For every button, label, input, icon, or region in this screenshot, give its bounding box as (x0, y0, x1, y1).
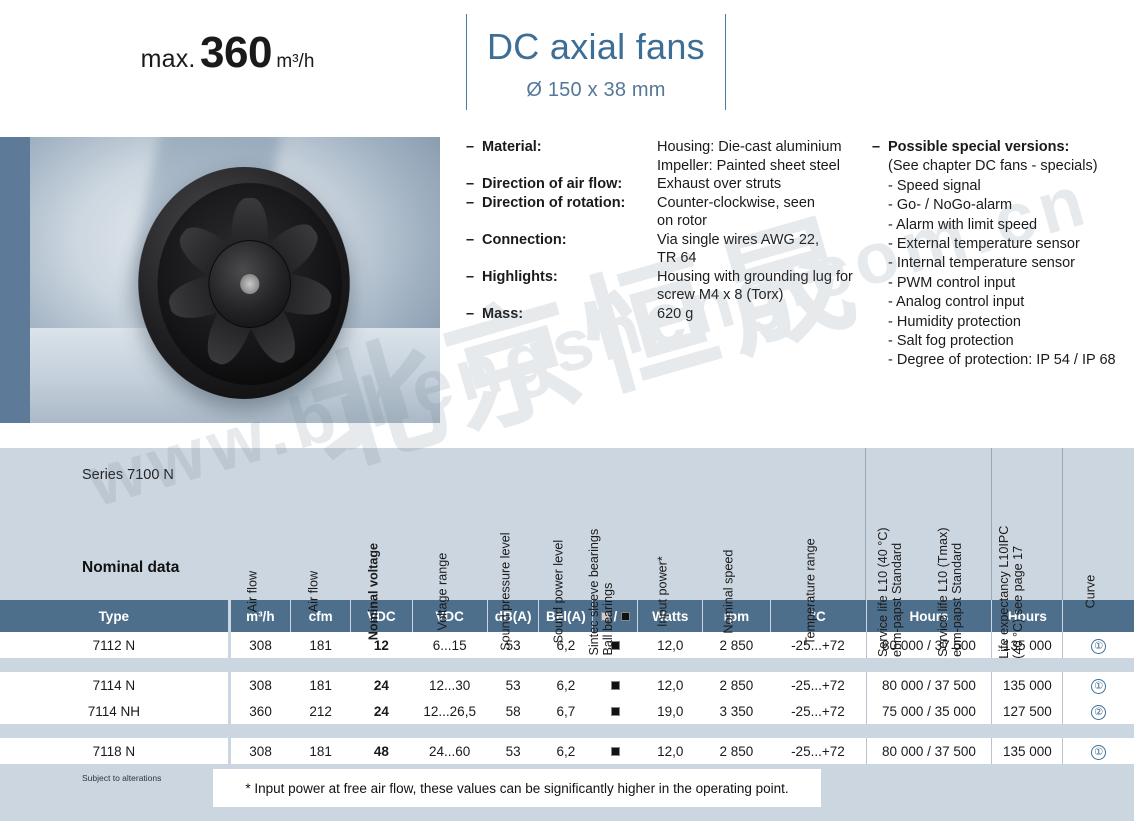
vhdr-text-a1: Service life L10 (40 °C) (877, 527, 891, 657)
fan-housing (138, 167, 349, 399)
product-info-section: – Material: Housing: Die-cast aluminium … (0, 130, 1134, 430)
cell-nominal-voltage: 48 (351, 738, 412, 764)
special-versions-list: – Possible special versions: (See chapte… (872, 138, 1134, 371)
spec-value: Exhaust over struts (657, 175, 866, 194)
title-block: DC axial fans Ø 150 x 38 mm (466, 14, 726, 110)
cell-service-life: 80 000 / 37 500 (866, 738, 992, 764)
cell-airflow-cfm: 181 (290, 632, 350, 658)
cell-sound-power: 6,7 (539, 698, 593, 724)
specials-item: - Speed signal (888, 177, 1134, 196)
spec-value: Housing with grounding lug for (657, 268, 866, 287)
top-banner: max. 360 m³/h DC axial fans Ø 150 x 38 m… (0, 0, 1134, 130)
vhdr-airflow-cfm: Air flow (290, 448, 350, 600)
specials-item: - External temperature sensor (888, 235, 1134, 254)
nominal-data-table: Series 7100 N Nominal data Air flow Air … (0, 448, 1134, 821)
vhdr-text: Air flow (307, 571, 321, 612)
cell-airflow-m3h: 308 (229, 632, 290, 658)
vhdr-sound-power: Sound power level (539, 448, 593, 600)
cell-input-power: 19,0 (638, 698, 703, 724)
spec-item: – Material: Housing: Die-cast aluminium (466, 138, 866, 157)
specifications-list: – Material: Housing: Die-cast aluminium … (466, 138, 866, 323)
cell-input-power: 12,0 (638, 632, 703, 658)
bullet-dash-icon: – (466, 231, 482, 250)
cell-voltage-range: 12...26,5 (412, 698, 487, 724)
cell-curve: ② (1063, 698, 1134, 724)
cell-curve: ① (1063, 738, 1134, 764)
cell-curve: ① (1063, 632, 1134, 658)
specials-item: - Alarm with limit speed (888, 216, 1134, 235)
vhdr-text: Air flow (246, 571, 260, 612)
vhdr-temperature-range: Temperature range (770, 448, 866, 600)
specials-subheading: (See chapter DC fans - specials) (888, 157, 1134, 176)
spec-value: Counter-clockwise, seen (657, 194, 866, 213)
spec-label: Direction of air flow: (482, 175, 657, 194)
cell-input-power: 12,0 (638, 672, 703, 698)
cell-service-life: 75 000 / 35 000 (866, 698, 992, 724)
cell-airflow-m3h: 308 (229, 738, 290, 764)
vhdr-nominal-voltage: Nominal voltage (351, 448, 412, 600)
cell-voltage-range: 24...60 (412, 738, 487, 764)
vhdr-text: Nominal voltage (368, 543, 382, 640)
unit-sound-pressure: dB(A) (487, 600, 539, 632)
spec-value: Housing: Die-cast aluminium (657, 138, 866, 157)
cell-bearing (593, 672, 638, 698)
fan-hub (208, 240, 291, 328)
cell-nominal-speed: 2 850 (703, 738, 771, 764)
bullet-dash-icon: – (466, 138, 482, 157)
cell-type: 7114 N (0, 672, 229, 698)
curve-number: ② (1091, 705, 1106, 720)
cell-temp-range: -25...+72 (770, 698, 866, 724)
spec-item: – Direction of rotation: Counter-clockwi… (466, 194, 866, 213)
cell-nominal-voltage: 24 (351, 698, 412, 724)
cell-airflow-m3h: 360 (229, 698, 290, 724)
spec-item: – Highlights: Housing with grounding lug… (466, 268, 866, 287)
bullet-dash-icon: – (466, 194, 482, 213)
vhdr-nominal-speed: Nominal speed (703, 448, 771, 600)
axial-fan-illustration (128, 163, 360, 403)
spec-cont: screw M4 x 8 (Torx) (466, 286, 866, 305)
vhdr-life-expectancy: Life expectancy L10IPC (40 °C) see page … (992, 448, 1063, 600)
spec-cont: on rotor (466, 212, 866, 231)
vhdr-text: Curve (1085, 575, 1099, 609)
cell-type: 7118 N (0, 738, 229, 764)
ball-bearing-icon (621, 612, 630, 621)
specials-heading-row: – Possible special versions: (872, 138, 1134, 157)
ball-bearing-icon (611, 747, 620, 756)
max-airflow-callout: max. 360 m³/h (0, 28, 455, 78)
page-title: DC axial fans (467, 29, 725, 65)
series-label: Series 7100 N (82, 467, 174, 483)
vhdr-text-ball: Ball bearings (602, 529, 616, 656)
cell-nominal-speed: 3 350 (703, 698, 771, 724)
cell-life-expectancy: 135 000 (992, 738, 1063, 764)
cell-sound-pressure: 58 (487, 698, 539, 724)
cell-sound-pressure: 53 (487, 672, 539, 698)
unit-temp-range: °C (770, 600, 866, 632)
curve-number: ① (1091, 639, 1106, 654)
unit-nominal-voltage: VDC (351, 600, 412, 632)
curve-number: ① (1091, 745, 1106, 760)
curve-number: ① (1091, 679, 1106, 694)
cell-nominal-speed: 2 850 (703, 632, 771, 658)
cell-temp-range: -25...+72 (770, 738, 866, 764)
spec-value: 620 g (657, 305, 866, 324)
ball-bearing-icon (611, 707, 620, 716)
cell-voltage-range: 6...15 (412, 632, 487, 658)
cell-sound-pressure: 53 (487, 738, 539, 764)
max-prefix: max. (141, 45, 196, 73)
bullet-dash-icon: – (872, 138, 888, 157)
specials-heading: Possible special versions: (888, 138, 1069, 157)
cell-sound-power: 6,2 (539, 738, 593, 764)
unit-curve (1063, 600, 1134, 632)
cell-temp-range: -25...+72 (770, 672, 866, 698)
cell-nominal-speed: 2 850 (703, 672, 771, 698)
fan-impeller (157, 183, 342, 385)
vhdr-text-b1: Service life L10 (Tmax) (937, 527, 951, 656)
bullet-dash-icon: – (466, 268, 482, 287)
vhdr-text-a2: ebm-papst Standard (890, 527, 904, 657)
vhdr-bearings: Sintec sleeve bearings Ball bearings (593, 448, 638, 600)
spec-item: – Mass: 620 g (466, 305, 866, 324)
cell-service-life: 80 000 / 37 500 (866, 672, 992, 698)
vhdr-service-life: Service life L10 (40 °C) ebm-papst Stand… (866, 448, 992, 600)
table-footer: Subject to alterations * Input power at … (0, 764, 1134, 821)
table-row: 7114 NH 360 212 24 12...26,5 58 6,7 19,0… (0, 698, 1134, 724)
vhdr-text: Input power* (657, 557, 671, 628)
spec-label: Mass: (482, 305, 657, 324)
unit-type: Type (0, 600, 229, 632)
cell-temp-range: -25...+72 (770, 632, 866, 658)
vhdr-input-power: Input power* (638, 448, 703, 600)
page-subtitle: Ø 150 x 38 mm (467, 79, 725, 102)
cell-type: 7114 NH (0, 698, 229, 724)
spec-label: Material: (482, 138, 657, 157)
spec-item: – Connection: Via single wires AWG 22, (466, 231, 866, 250)
cell-life-expectancy: 127 500 (992, 698, 1063, 724)
vhdr-text: Temperature range (805, 539, 819, 645)
cell-bearing (593, 698, 638, 724)
cell-nominal-voltage: 24 (351, 672, 412, 698)
cell-life-expectancy: 135 000 (992, 672, 1063, 698)
cell-input-power: 12,0 (638, 738, 703, 764)
specials-item: - Go- / NoGo-alarm (888, 196, 1134, 215)
unit-input-power: Watts (638, 600, 703, 632)
cell-curve: ① (1063, 672, 1134, 698)
cell-type: 7112 N (0, 632, 229, 658)
specials-item: - Salt fog protection (888, 332, 1134, 351)
spec-label: Connection: (482, 231, 657, 250)
spec-item: – Direction of air flow: Exhaust over st… (466, 175, 866, 194)
specials-item: - PWM control input (888, 274, 1134, 293)
vhdr-sound-pressure: Sound pressure level (487, 448, 539, 600)
bullet-dash-icon: – (466, 175, 482, 194)
table-row: 7114 N 308 181 24 12...30 53 6,2 12,0 2 … (0, 672, 1134, 698)
max-value: 360 (200, 28, 272, 77)
cell-airflow-cfm: 212 (290, 698, 350, 724)
specials-item: - Humidity protection (888, 313, 1134, 332)
unit-nominal-speed: rpm (703, 600, 771, 632)
spec-label: Highlights: (482, 268, 657, 287)
cell-voltage-range: 12...30 (412, 672, 487, 698)
footnote-input-power: * Input power at free air flow, these va… (213, 769, 821, 807)
vhdr-text-b2: ebm-papst Standard (951, 527, 965, 656)
vertical-header-row: Series 7100 N Nominal data Air flow Air … (0, 448, 1134, 600)
vhdr-text: Sound power level (552, 540, 566, 644)
cell-nominal-voltage: 12 (351, 632, 412, 658)
vhdr-text-1: Life expectancy L10IPC (997, 525, 1011, 658)
vhdr-voltage-range: Voltage range (412, 448, 487, 600)
cell-airflow-cfm: 181 (290, 738, 350, 764)
row-gap (0, 658, 1134, 672)
vhdr-airflow-m3h: Air flow (229, 448, 290, 600)
vhdr-text-2: (40 °C) see page 17 (1011, 525, 1025, 658)
row-gap (0, 724, 1134, 738)
product-photo (0, 137, 440, 423)
spec-value: Via single wires AWG 22, (657, 231, 866, 250)
series-header-cell: Series 7100 N Nominal data (0, 448, 229, 600)
cell-bearing (593, 738, 638, 764)
bullet-dash-icon: – (466, 305, 482, 324)
spec-cont: TR 64 (466, 249, 866, 268)
ball-bearing-icon (611, 681, 620, 690)
specials-item: - Analog control input (888, 293, 1134, 312)
cell-airflow-m3h: 308 (229, 672, 290, 698)
specials-item: - Internal temperature sensor (888, 254, 1134, 273)
spec-label: Direction of rotation: (482, 194, 657, 213)
nominal-data-label: Nominal data (82, 559, 179, 577)
subject-to-alterations: Subject to alterations (82, 773, 161, 783)
cell-airflow-cfm: 181 (290, 672, 350, 698)
table-row: 7118 N 308 181 48 24...60 53 6,2 12,0 2 … (0, 738, 1134, 764)
cell-sound-pressure: 53 (487, 632, 539, 658)
vhdr-text-sintec: Sintec sleeve bearings (588, 529, 602, 656)
vhdr-text: Voltage range (436, 553, 450, 631)
vhdr-curve: Curve (1063, 448, 1134, 600)
specials-item: - Degree of protection: IP 54 / IP 68 (888, 351, 1134, 370)
max-unit: m³/h (276, 51, 314, 72)
cell-sound-power: 6,2 (539, 672, 593, 698)
vhdr-text: Sound pressure level (500, 533, 514, 651)
spec-cont: Impeller: Painted sheet steel (466, 157, 866, 176)
vhdr-text: Nominal speed (723, 550, 737, 634)
